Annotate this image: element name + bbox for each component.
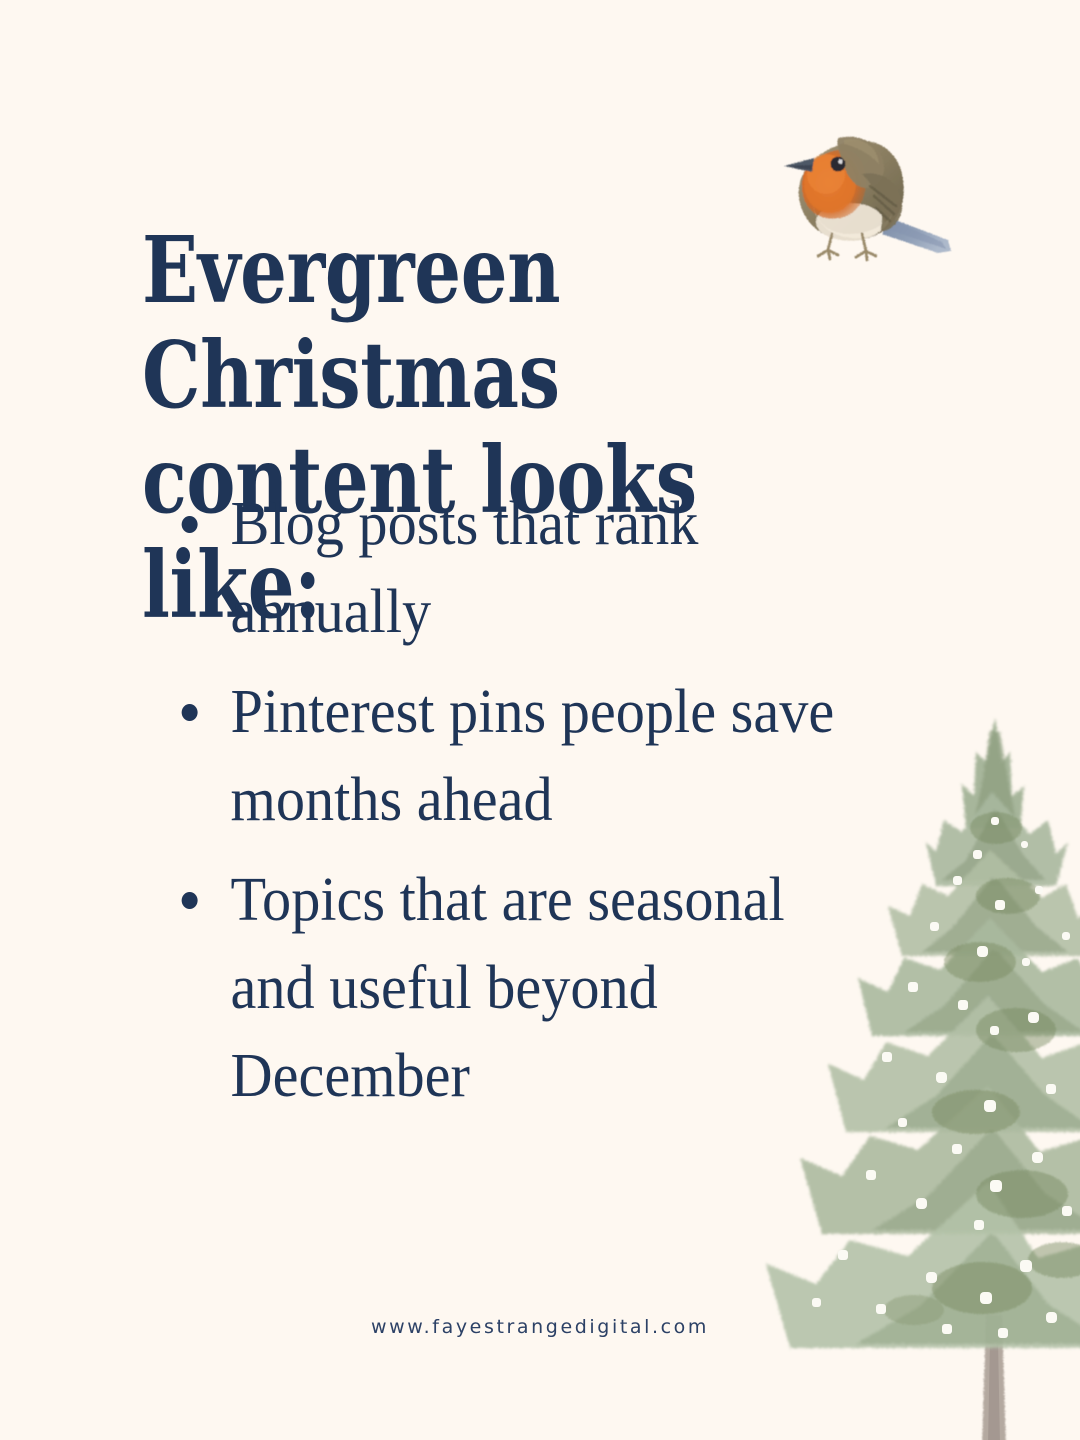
list-item: Blog posts that rank annually	[176, 480, 872, 656]
poster-content: Evergreen Christmas content looks like: …	[0, 0, 1080, 1440]
list-item-label: Topics that are seasonal and useful beyo…	[231, 866, 785, 1110]
list-item: Topics that are seasonal and useful beyo…	[176, 856, 872, 1120]
bullet-dot-icon	[182, 892, 198, 909]
website-url: www.fayestrangedigital.com	[0, 1316, 1080, 1338]
bullet-dot-icon	[182, 704, 198, 721]
list-item: Pinterest pins people save months ahead	[176, 668, 872, 844]
list-item-label: Blog posts that rank annually	[231, 490, 699, 646]
pinterest-graphic-canvas: Evergreen Christmas content looks like: …	[0, 0, 1080, 1440]
evergreen-content-list: Blog posts that rank annually Pinterest …	[176, 480, 916, 1132]
bullet-dot-icon	[182, 516, 198, 533]
list-item-label: Pinterest pins people save months ahead	[231, 678, 835, 834]
